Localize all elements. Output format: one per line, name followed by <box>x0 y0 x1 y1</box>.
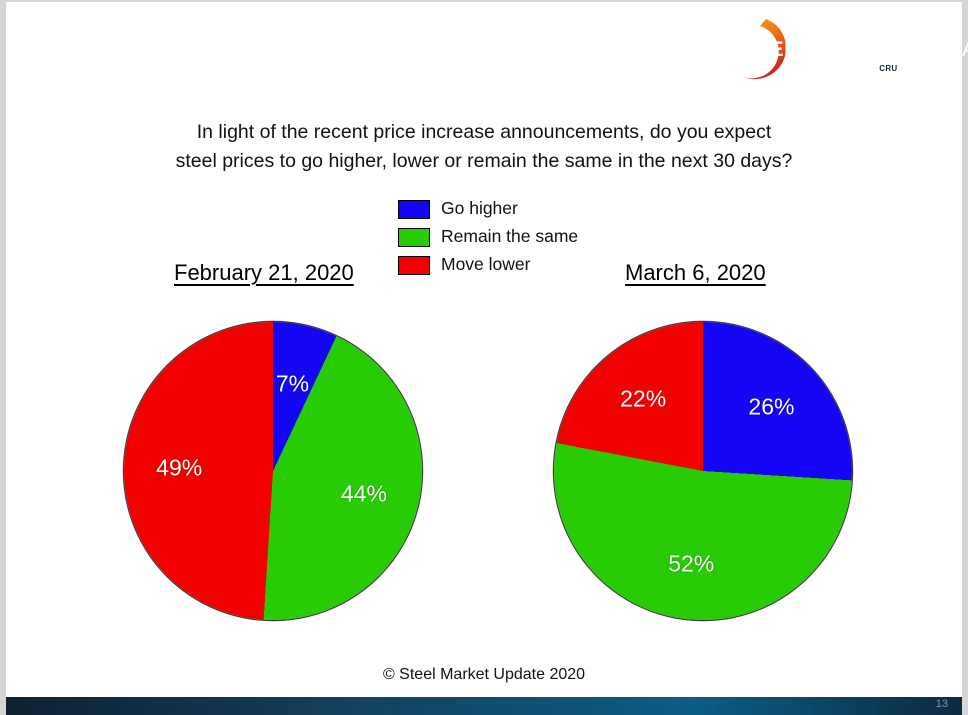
legend-item-remain-the-same: Remain the same <box>398 226 578 248</box>
copyright-notice: © Steel Market Update 2020 <box>6 666 962 684</box>
cru-badge: CRU <box>876 63 900 75</box>
pie-slice-label: 49% <box>156 455 202 482</box>
pie-slice-label: 7% <box>276 370 309 397</box>
page-number: 13 <box>936 699 948 710</box>
legend-swatch-green <box>398 228 430 247</box>
legend-swatch-blue <box>398 200 430 219</box>
slide-footer-bar: 13 <box>6 697 962 715</box>
chart-legend: Go higher Remain the same Move lower <box>398 198 578 276</box>
logo-word-update: UPDATE <box>916 38 968 61</box>
pie-chart-march: 26%52%22% <box>554 322 852 620</box>
legend-swatch-red <box>398 256 430 275</box>
logo-word-steel: STEEL <box>742 38 812 61</box>
pie-slice-label: 44% <box>341 481 387 508</box>
slide-header: Steel Price Direction STEEL MARKET UPDAT… <box>6 6 962 94</box>
logo-sub-prefix: part of the <box>821 63 872 75</box>
legend-label-remain-the-same: Remain the same <box>441 228 578 246</box>
legend-item-move-lower: Move lower <box>398 254 578 276</box>
chart-title-march: March 6, 2020 <box>625 260 766 286</box>
legend-label-go-higher: Go higher <box>441 200 518 218</box>
page-title: Steel Price Direction <box>6 25 706 70</box>
logo-wordmark: STEEL MARKET UPDATE <box>742 38 968 62</box>
question-line-1: In light of the recent price increase an… <box>6 118 962 147</box>
legend-item-go-higher: Go higher <box>398 198 578 220</box>
pie-slice-label: 26% <box>748 393 794 420</box>
logo-sub-suffix: Group <box>905 63 937 75</box>
pie-slice-label: 52% <box>668 551 714 578</box>
steel-market-update-logo: STEEL MARKET UPDATE part of the CRU Grou… <box>708 18 938 84</box>
question-line-2: steel prices to go higher, lower or rema… <box>6 147 962 176</box>
slide-canvas: Steel Price Direction STEEL MARKET UPDAT… <box>0 0 968 715</box>
chart-title-february: February 21, 2020 <box>174 260 354 286</box>
survey-question: In light of the recent price increase an… <box>6 118 962 176</box>
logo-word-market: MARKET <box>818 38 910 61</box>
logo-subtitle: part of the CRU Group <box>821 63 936 75</box>
pie-chart-february: 7%44%49% <box>124 322 422 620</box>
pie-slice-label: 22% <box>620 385 666 412</box>
legend-label-move-lower: Move lower <box>441 256 530 274</box>
